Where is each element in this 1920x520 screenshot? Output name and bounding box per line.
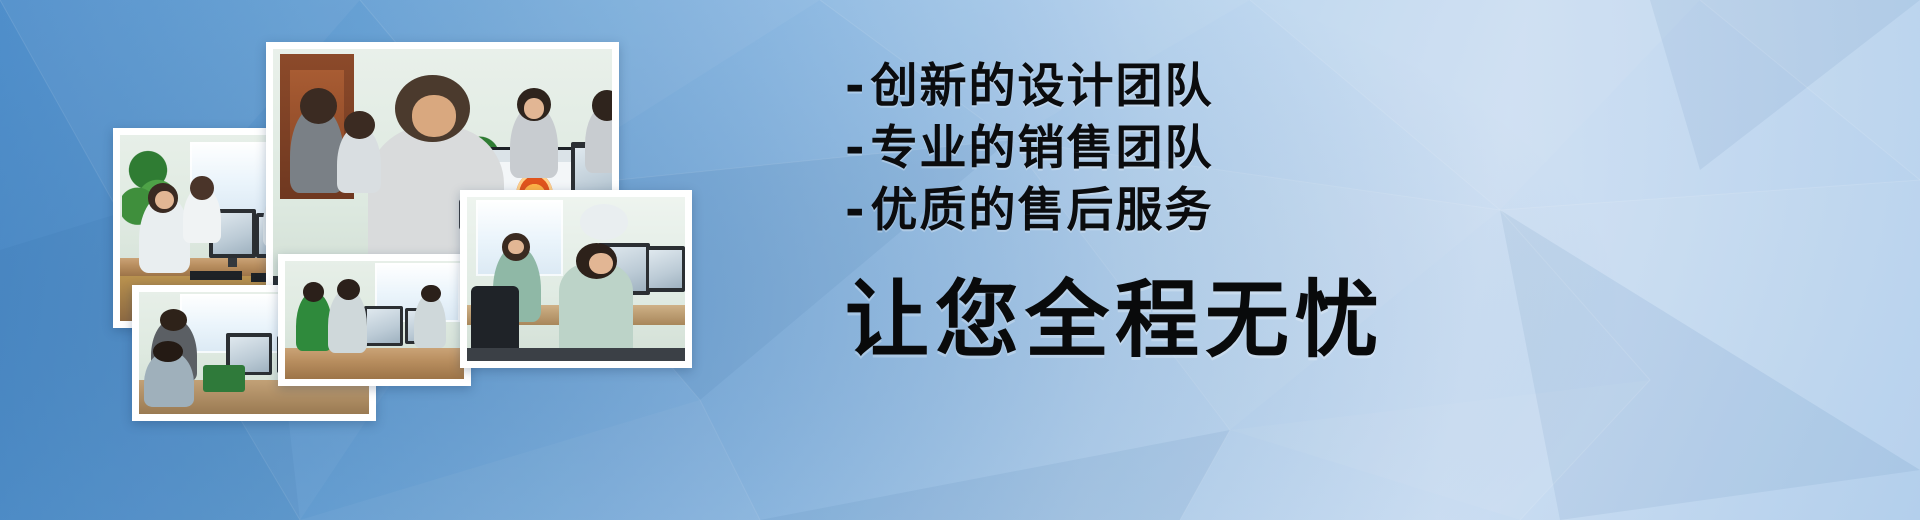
benefit-item-sales-team: -专业的销售团队 [845, 118, 1485, 180]
photo-sales-pair [460, 190, 692, 368]
benefit-label: 创新的设计团队 [871, 59, 1214, 114]
bullet-dash-icon: - [845, 118, 867, 180]
bullet-dash-icon: - [845, 180, 867, 242]
promo-banner: -创新的设计团队 -专业的销售团队 -优质的售后服务 让您全程无忧 [0, 0, 1920, 520]
benefit-label: 优质的售后服务 [871, 183, 1214, 238]
benefit-list: -创新的设计团队 -专业的销售团队 -优质的售后服务 [845, 56, 1485, 242]
banner-headline: 让您全程无忧 [845, 272, 1485, 368]
bullet-dash-icon: - [845, 56, 867, 118]
benefit-item-after-sales: -优质的售后服务 [845, 180, 1485, 242]
benefit-label: 专业的销售团队 [871, 121, 1214, 176]
banner-text-block: -创新的设计团队 -专业的销售团队 -优质的售后服务 让您全程无忧 [845, 56, 1485, 368]
benefit-item-design-team: -创新的设计团队 [845, 56, 1485, 118]
photo-collage [0, 0, 860, 520]
photo-open-office [278, 254, 471, 386]
